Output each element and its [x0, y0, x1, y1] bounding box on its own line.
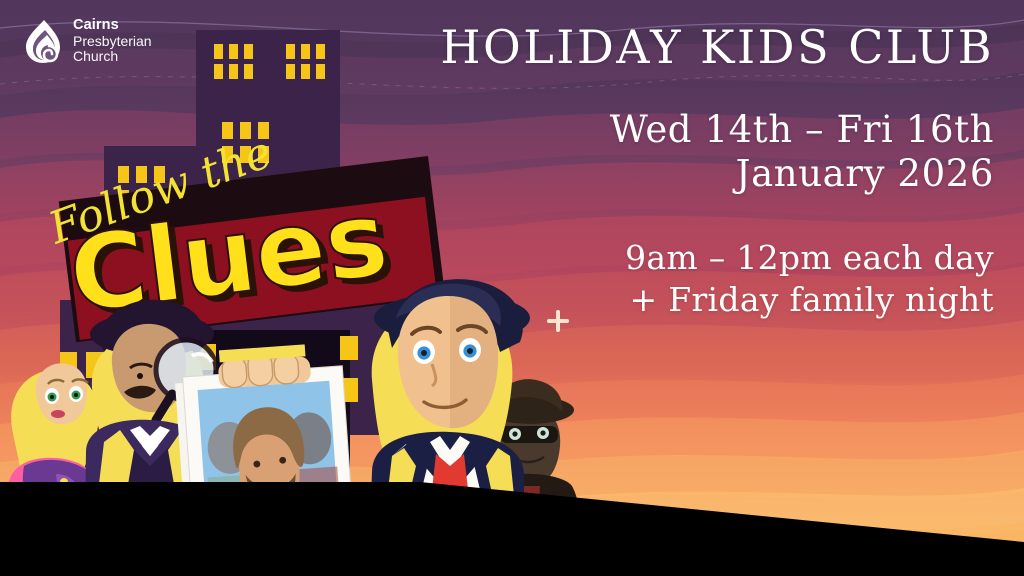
- event-dates-line2: January 2026: [434, 152, 994, 196]
- event-times-line2: + Friday family night: [434, 279, 994, 321]
- church-name-line2: Presbyterian: [73, 34, 152, 50]
- hand-holding-polaroid: [217, 344, 311, 388]
- flame-leaf-mark-icon: [24, 18, 62, 64]
- event-times-line1: 9am – 12pm each day: [625, 238, 994, 277]
- church-logo: Cairns Presbyterian Church: [24, 17, 152, 65]
- event-dates-line1: Wed 14th – Fri 16th: [610, 108, 994, 151]
- event-dates: Wed 14th – Fri 16th January 2026: [434, 108, 994, 195]
- church-name-line1: Cairns: [73, 17, 152, 34]
- church-name-line3: Church: [73, 49, 152, 65]
- page-title: HOLIDAY KIDS CLUB: [434, 24, 994, 70]
- event-details-panel: HOLIDAY KIDS CLUB Wed 14th – Fri 16th Ja…: [434, 24, 994, 320]
- event-times: 9am – 12pm each day + Friday family nigh…: [434, 237, 994, 320]
- holiday-kids-club-poster: Follow the Clues Clues: [0, 0, 1024, 576]
- ground-shadow: [0, 456, 1024, 576]
